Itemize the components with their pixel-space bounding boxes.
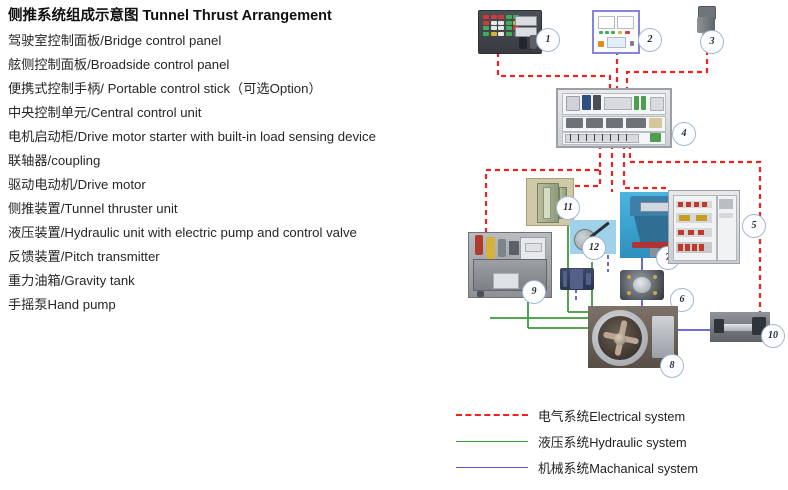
component-list: 侧推系统组成示意图 Tunnel Thrust Arrangement 驾驶室控… <box>6 6 458 317</box>
callout-9: 9 <box>522 280 546 304</box>
legend-label-electrical: 电气系统Electrical system <box>538 406 685 425</box>
callout-3: 3 <box>700 30 724 54</box>
list-item: 侧推装置/Tunnel thruster unit <box>8 197 458 221</box>
callout-11: 11 <box>556 196 580 220</box>
mechanical-line-swatch <box>456 467 528 468</box>
part-coupling[interactable] <box>620 270 664 300</box>
schematic-diagram: 1 2 3 <box>460 0 788 400</box>
callout-10: 10 <box>761 324 785 348</box>
part-broadside-control-panel[interactable] <box>592 10 640 54</box>
callout-1: 1 <box>536 28 560 52</box>
callout-12: 12 <box>582 236 606 260</box>
electrical-line-swatch <box>456 414 528 416</box>
list-item: 驾驶室控制面板/Bridge control panel <box>8 29 458 53</box>
callout-8: 8 <box>660 354 684 378</box>
list-item: 中央控制单元/Central control unit <box>8 101 458 125</box>
part-central-control-unit[interactable] <box>556 88 672 148</box>
list-item: 重力油箱/Gravity tank <box>8 269 458 293</box>
part-bridge-control-panel[interactable] <box>478 10 542 54</box>
callout-2: 2 <box>638 28 662 52</box>
legend-row-hydraulic: 液压系统Hydraulic system <box>452 428 788 454</box>
list-item: 液压装置/Hydraulic unit with electric pump a… <box>8 221 458 245</box>
list-item: 便携式控制手柄/ Portable control stick（可选Option… <box>8 77 458 101</box>
part-coupling-body[interactable] <box>560 268 594 290</box>
legend-row-electrical: 电气系统Electrical system <box>452 402 788 428</box>
system-legend: 电气系统Electrical system 液压系统Hydraulic syst… <box>452 402 788 480</box>
legend-label-hydraulic: 液压系统Hydraulic system <box>538 432 687 451</box>
diagram-page: 侧推系统组成示意图 Tunnel Thrust Arrangement 驾驶室控… <box>0 0 788 490</box>
list-item: 联轴器/coupling <box>8 149 458 173</box>
part-drive-motor-starter[interactable] <box>668 190 740 264</box>
hydraulic-line-swatch <box>456 441 528 442</box>
legend-row-mechanical: 机械系统Machanical system <box>452 454 788 480</box>
callout-4: 4 <box>672 122 696 146</box>
list-item: 电机启动柜/Drive motor starter with built-in … <box>8 125 458 149</box>
page-title: 侧推系统组成示意图 Tunnel Thrust Arrangement <box>8 6 458 26</box>
list-item: 手摇泵Hand pump <box>8 293 458 317</box>
legend-label-mechanical: 机械系统Machanical system <box>538 458 698 477</box>
callout-5: 5 <box>742 214 766 238</box>
list-item: 驱动电动机/Drive motor <box>8 173 458 197</box>
list-item: 舷侧控制面板/Broadside control panel <box>8 53 458 77</box>
list-item: 反馈装置/Pitch transmitter <box>8 245 458 269</box>
